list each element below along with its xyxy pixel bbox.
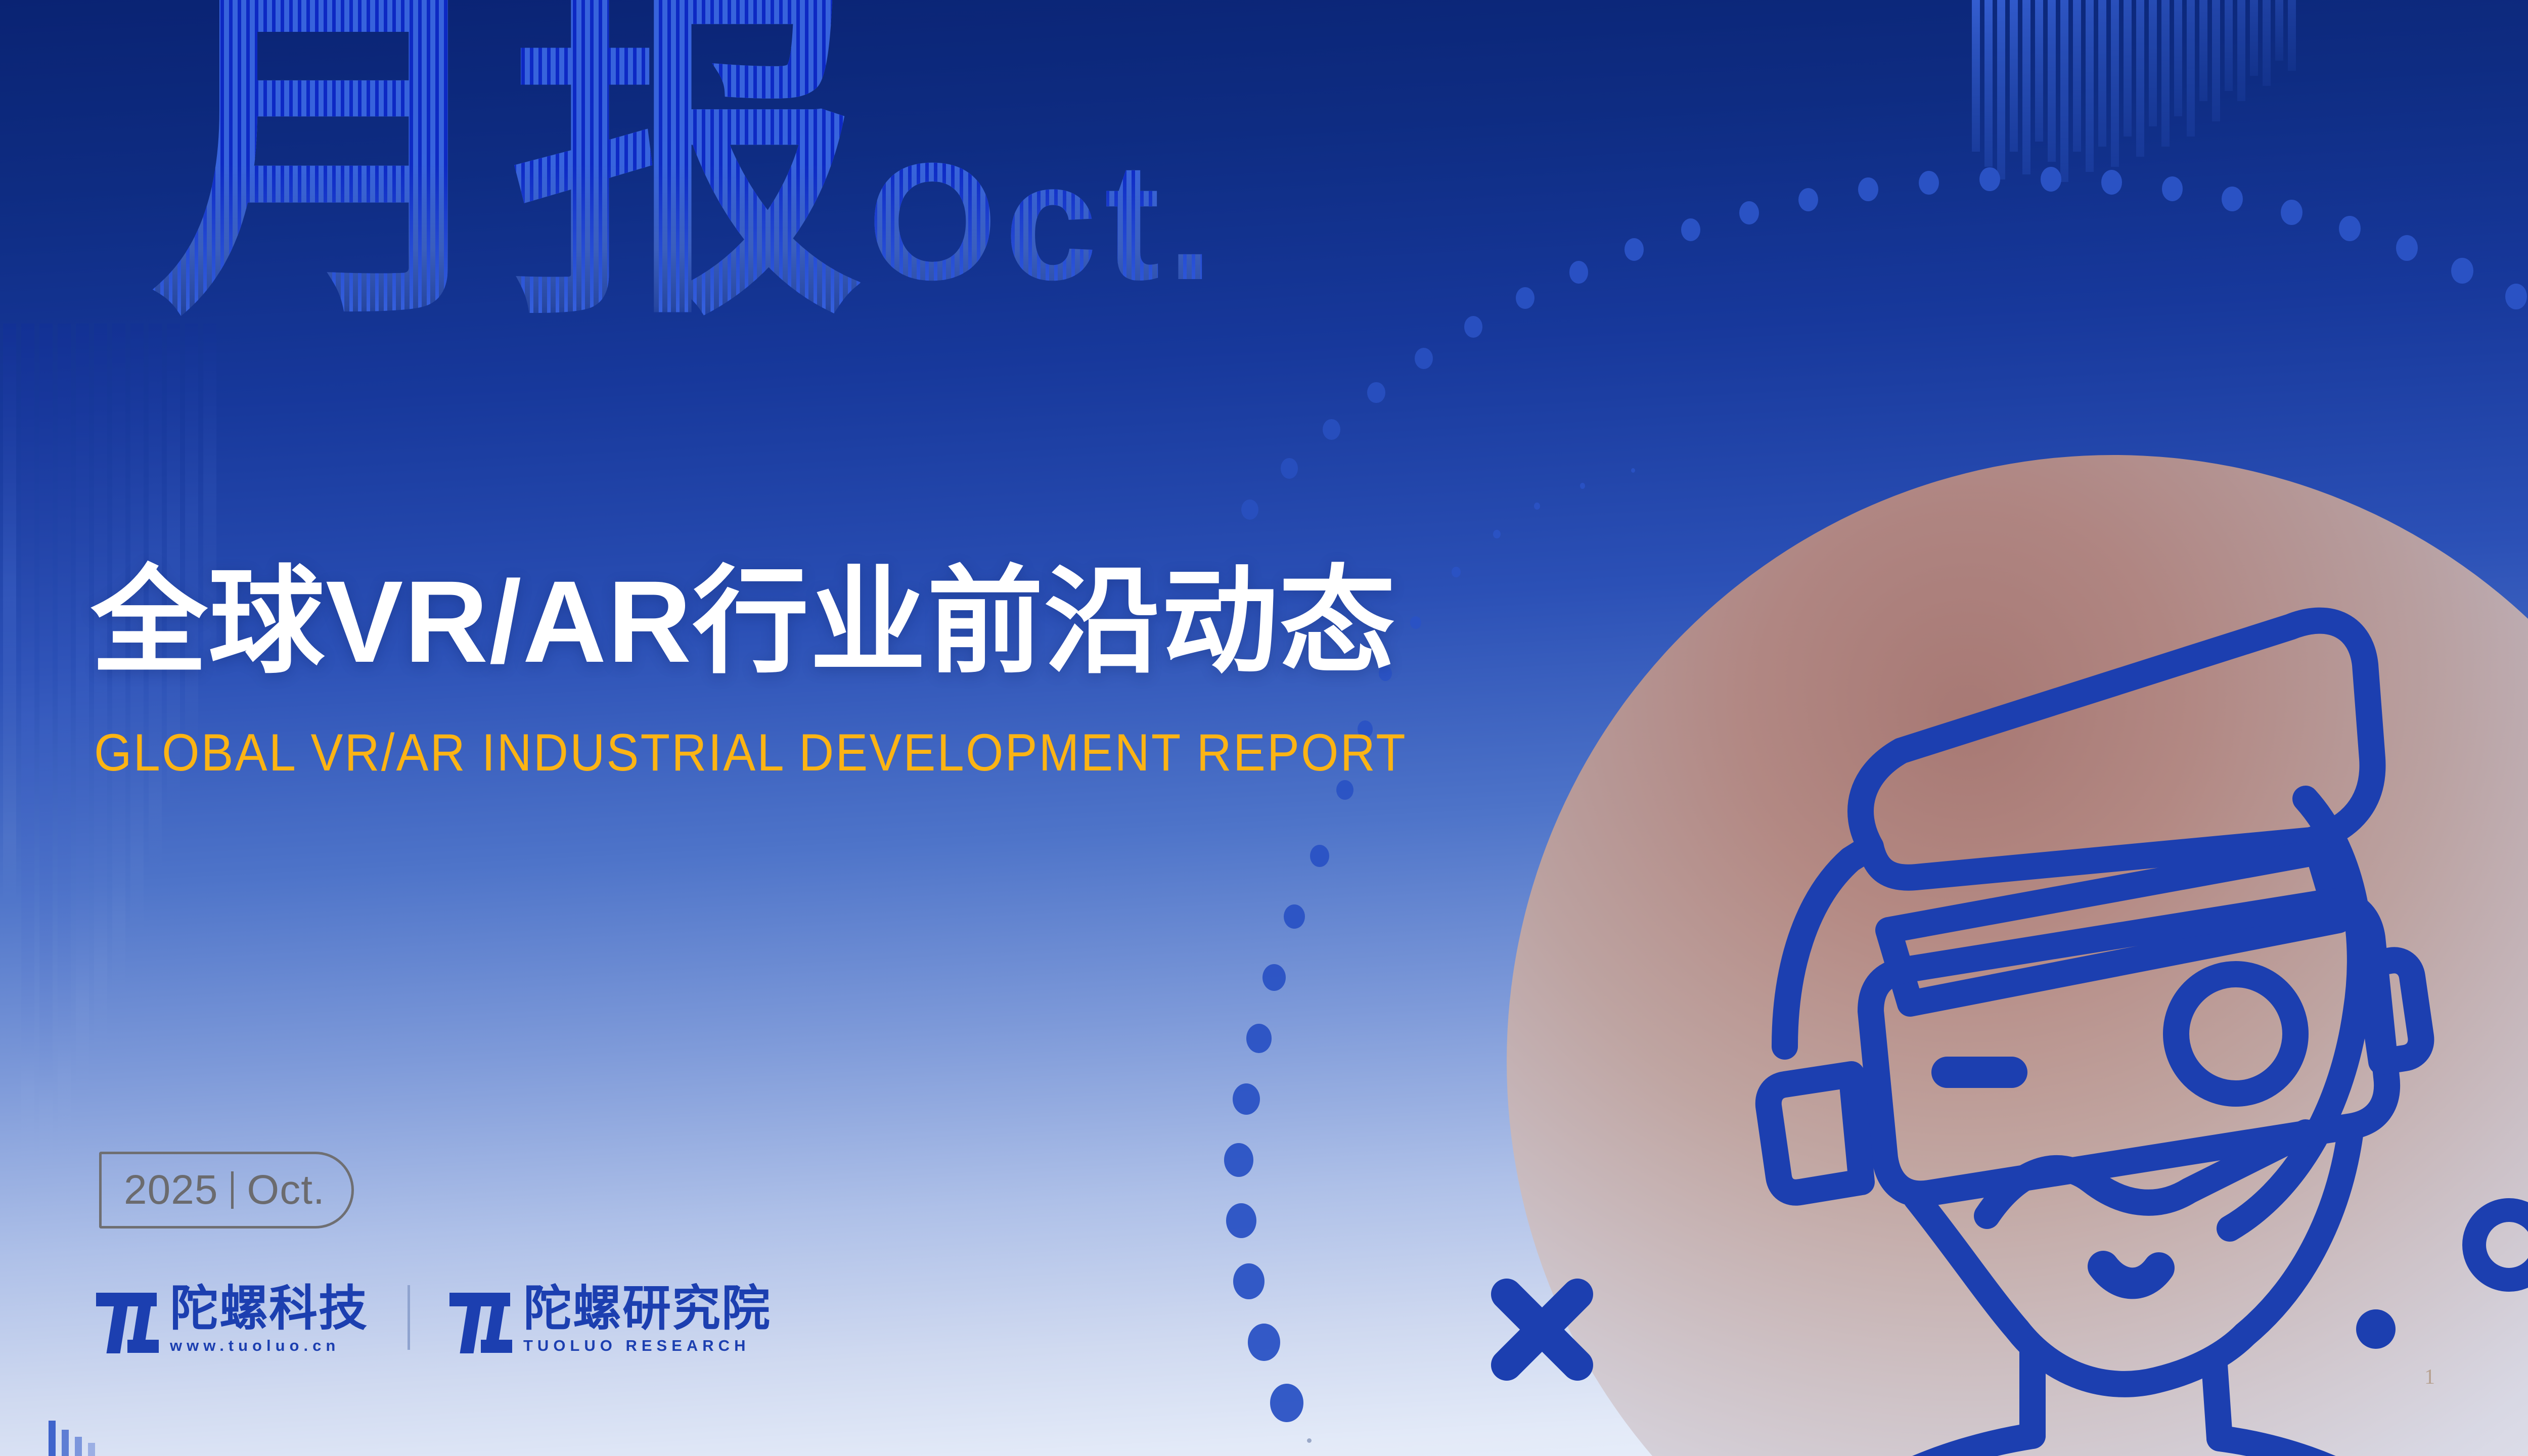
tl-monogram-icon — [449, 1289, 510, 1353]
cover-slide: 月报Oct. — [0, 0, 2528, 1456]
badge-year: 2025 — [124, 1166, 218, 1214]
logo-tuoluo-research: 陀螺研究院 TUOLUO RESEARCH — [449, 1284, 771, 1353]
date-badge: 2025 Oct. — [99, 1152, 354, 1228]
page-number: 1 — [2424, 1365, 2435, 1389]
logo-name-cn: 陀螺科技 — [170, 1284, 368, 1333]
logo-tuoluo-tech: 陀螺科技 www.tuoluo.cn — [96, 1284, 368, 1353]
x-mark-icon — [1489, 1277, 1595, 1383]
logo-name-cn: 陀螺研究院 — [523, 1284, 771, 1333]
logo-name-en: TUOLUO RESEARCH — [523, 1338, 771, 1353]
logo-divider — [408, 1285, 410, 1350]
logo-lockup: 陀螺科技 www.tuoluo.cn 陀螺研究院 TUOLUO RESEARCH — [96, 1284, 771, 1353]
tl-monogram-icon — [96, 1289, 157, 1353]
badge-separator — [231, 1171, 234, 1209]
page-subtitle: GLOBAL VR/AR INDUSTRIAL DEVELOPMENT REPO… — [94, 723, 1407, 783]
vr-headset-person-illustration — [1633, 475, 2452, 1456]
dot-icon — [2356, 1309, 2396, 1349]
logo-name-en: www.tuoluo.cn — [170, 1338, 368, 1353]
page-title: 全球VR/AR行业前沿动态 — [91, 564, 1396, 680]
small-dot-icon — [1307, 1438, 1312, 1443]
badge-month: Oct. — [247, 1166, 325, 1214]
